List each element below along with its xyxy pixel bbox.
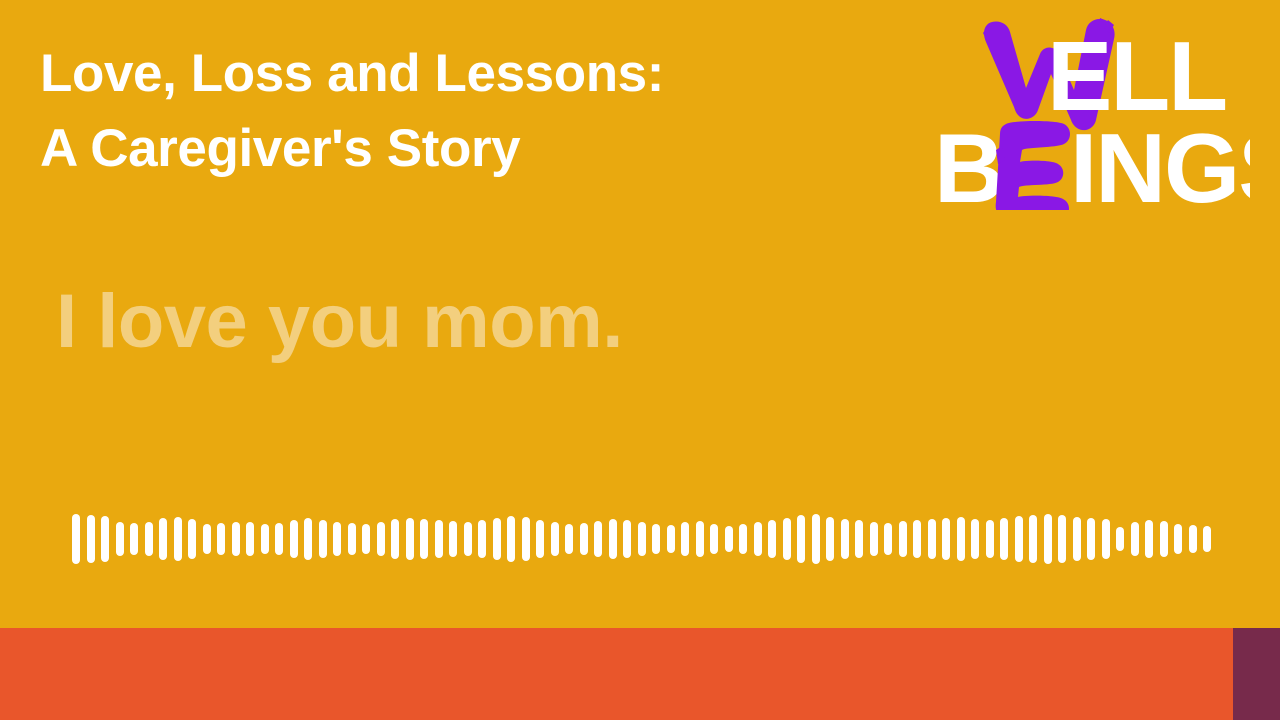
- waveform-bar: [739, 524, 747, 554]
- waveform-bar: [652, 524, 660, 554]
- waveform-bar: [1087, 518, 1095, 560]
- waveform-bar: [188, 519, 196, 559]
- waveform-bar: [1203, 526, 1211, 552]
- waveform-bar: [522, 517, 530, 561]
- waveform-bar: [725, 526, 733, 552]
- waveform-bar: [464, 522, 472, 556]
- waveform-bar: [420, 519, 428, 559]
- waveform-bar: [174, 517, 182, 561]
- waveform-bar: [536, 520, 544, 558]
- waveform-bar: [478, 520, 486, 558]
- audiogram-card: Love, Loss and Lessons: A Caregiver's St…: [0, 0, 1280, 720]
- waveform-bar: [333, 522, 341, 556]
- waveform-bar: [449, 521, 457, 557]
- well-beings-logo: ELL B INGS: [930, 14, 1250, 210]
- waveform-bar: [275, 523, 283, 555]
- waveform-bar: [841, 519, 849, 559]
- waveform-bar: [145, 522, 153, 556]
- waveform-bar: [812, 514, 820, 564]
- waveform-bar: [942, 518, 950, 560]
- logo-text-b: B: [934, 113, 1003, 210]
- waveform-bar: [710, 524, 718, 554]
- waveform-bar: [986, 520, 994, 558]
- waveform-bar: [362, 524, 370, 554]
- waveform-bar: [217, 523, 225, 555]
- waveform-bar: [768, 520, 776, 558]
- waveform-bar: [1058, 515, 1066, 563]
- waveform-bar: [319, 520, 327, 558]
- waveform-bar: [406, 518, 414, 560]
- waveform-bar: [507, 516, 515, 562]
- waveform-bar: [159, 518, 167, 560]
- waveform-bar: [1000, 518, 1008, 560]
- caption-text: I love you mom.: [56, 278, 1156, 366]
- waveform-bar: [1160, 521, 1168, 557]
- waveform-bar: [580, 523, 588, 555]
- waveform-bar: [304, 518, 312, 560]
- waveform-bar: [246, 522, 254, 556]
- waveform-bar: [783, 518, 791, 560]
- waveform-bar: [696, 521, 704, 557]
- waveform-bar: [290, 520, 298, 558]
- waveform-bar: [957, 517, 965, 561]
- waveform-bar: [1145, 520, 1153, 558]
- waveform-bar: [101, 516, 109, 562]
- waveform-bar: [623, 520, 631, 558]
- waveform-bar: [377, 522, 385, 556]
- waveform-bar: [870, 522, 878, 556]
- waveform-bar: [261, 524, 269, 554]
- logo-brush-e-icon: [996, 121, 1070, 210]
- waveform-bar: [884, 523, 892, 555]
- waveform-bar: [855, 520, 863, 558]
- page-title: Love, Loss and Lessons: A Caregiver's St…: [40, 36, 920, 187]
- waveform-bar: [826, 517, 834, 561]
- waveform-bar: [681, 522, 689, 556]
- waveform-bar: [203, 524, 211, 554]
- waveform-bar: [609, 519, 617, 559]
- waveform-bar: [638, 522, 646, 556]
- waveform-bar: [493, 518, 501, 560]
- waveform-bar: [1116, 527, 1124, 551]
- waveform-bar: [1015, 516, 1023, 562]
- waveform-bar: [72, 514, 80, 564]
- waveform-bar: [1044, 514, 1052, 564]
- progress-bar-fill: [0, 628, 1233, 720]
- waveform-bar: [1174, 524, 1182, 554]
- waveform-bar: [971, 519, 979, 559]
- waveform-bar: [1131, 522, 1139, 556]
- waveform-bar: [913, 520, 921, 558]
- waveform-bar: [391, 519, 399, 559]
- audio-waveform[interactable]: [72, 508, 1212, 570]
- waveform-bar: [797, 515, 805, 563]
- waveform-bar: [899, 521, 907, 557]
- waveform-bar: [435, 520, 443, 558]
- waveform-bar: [1029, 515, 1037, 563]
- waveform-bar: [667, 525, 675, 553]
- waveform-bar: [928, 519, 936, 559]
- waveform-bar: [116, 522, 124, 556]
- waveform-bar: [87, 515, 95, 563]
- waveform-bar: [348, 523, 356, 555]
- waveform-bar: [232, 522, 240, 556]
- title-line-2: A Caregiver's Story: [40, 111, 920, 186]
- waveform-bar: [594, 521, 602, 557]
- waveform-bar: [754, 522, 762, 556]
- waveform-bar: [1102, 519, 1110, 559]
- waveform-bar: [1189, 525, 1197, 553]
- logo-text-ings: INGS: [1070, 113, 1250, 210]
- waveform-bar: [551, 522, 559, 556]
- waveform-bar: [130, 523, 138, 555]
- progress-bar-track[interactable]: [0, 628, 1280, 720]
- waveform-bar: [565, 524, 573, 554]
- waveform-bar: [1073, 517, 1081, 561]
- title-line-1: Love, Loss and Lessons:: [40, 36, 920, 111]
